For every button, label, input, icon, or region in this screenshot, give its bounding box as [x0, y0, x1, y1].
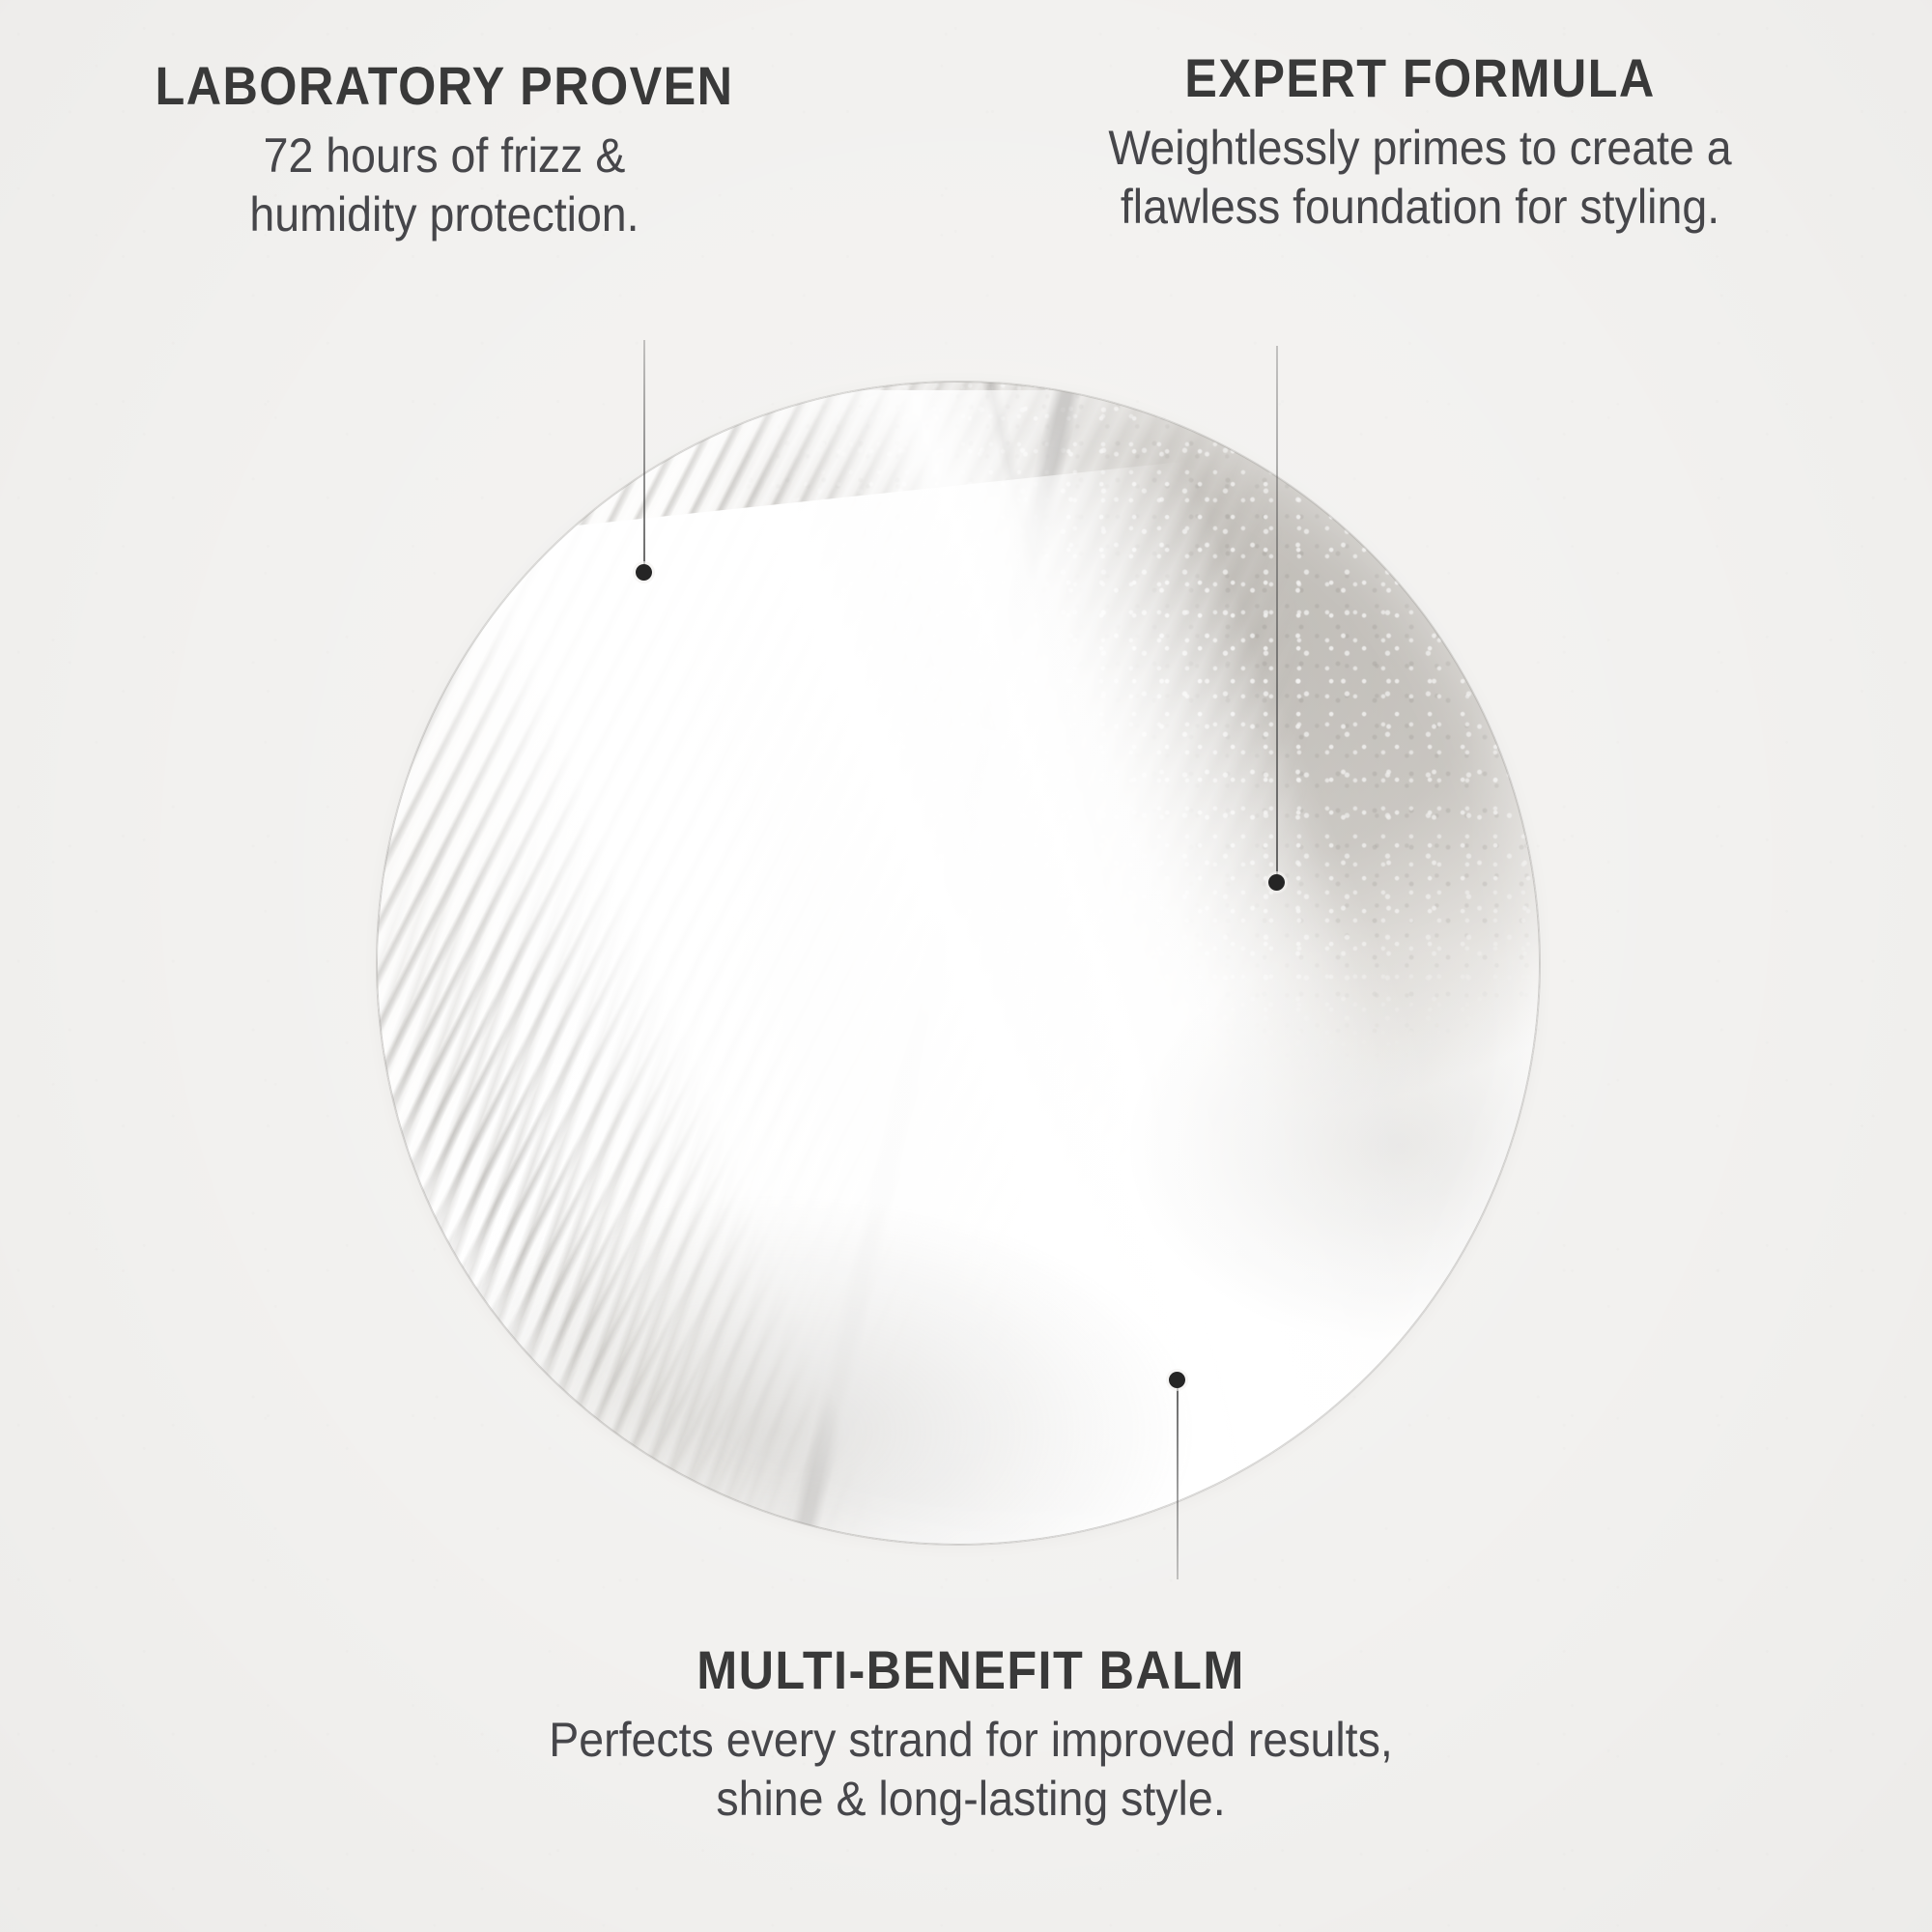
callout-laboratory-proven: LABORATORY PROVEN 72 hours of frizz & hu… — [39, 58, 850, 244]
leader-line-expert-formula — [1276, 346, 1278, 883]
leader-line-multi-benefit-balm — [1177, 1386, 1179, 1579]
callout-multi-benefit-balm: MULTI-BENEFIT BALM Perfects every strand… — [367, 1642, 1575, 1829]
callout-title-multi-benefit-balm: MULTI-BENEFIT BALM — [428, 1642, 1515, 1697]
product-swatch-image — [377, 382, 1540, 1545]
swatch-circle-rim — [377, 382, 1540, 1545]
callout-body-line: shine & long-lasting style. — [410, 1770, 1533, 1829]
callout-body-line: flawless foundation for styling. — [980, 178, 1860, 237]
callout-body-expert-formula: Weightlessly primes to create a flawless… — [980, 119, 1860, 237]
callout-body-multi-benefit-balm: Perfects every strand for improved resul… — [410, 1711, 1533, 1829]
anchor-dot-laboratory-proven — [636, 564, 652, 581]
callout-body-line: Perfects every strand for improved resul… — [410, 1711, 1533, 1770]
callout-body-line: Weightlessly primes to create a — [980, 119, 1860, 178]
callout-title-laboratory-proven: LABORATORY PROVEN — [79, 58, 810, 113]
callout-expert-formula: EXPERT FORMULA Weightlessly primes to cr… — [947, 50, 1893, 237]
product-benefits-graphic: LABORATORY PROVEN 72 hours of frizz & hu… — [0, 0, 1932, 1932]
callout-title-expert-formula: EXPERT FORMULA — [994, 50, 1846, 105]
leader-line-laboratory-proven — [643, 340, 645, 570]
anchor-dot-expert-formula — [1268, 874, 1285, 891]
callout-body-laboratory-proven: 72 hours of frizz & humidity protection. — [67, 127, 821, 244]
callout-body-line: 72 hours of frizz & — [67, 127, 821, 185]
callout-body-line: humidity protection. — [67, 185, 821, 244]
anchor-dot-multi-benefit-balm — [1169, 1372, 1185, 1388]
